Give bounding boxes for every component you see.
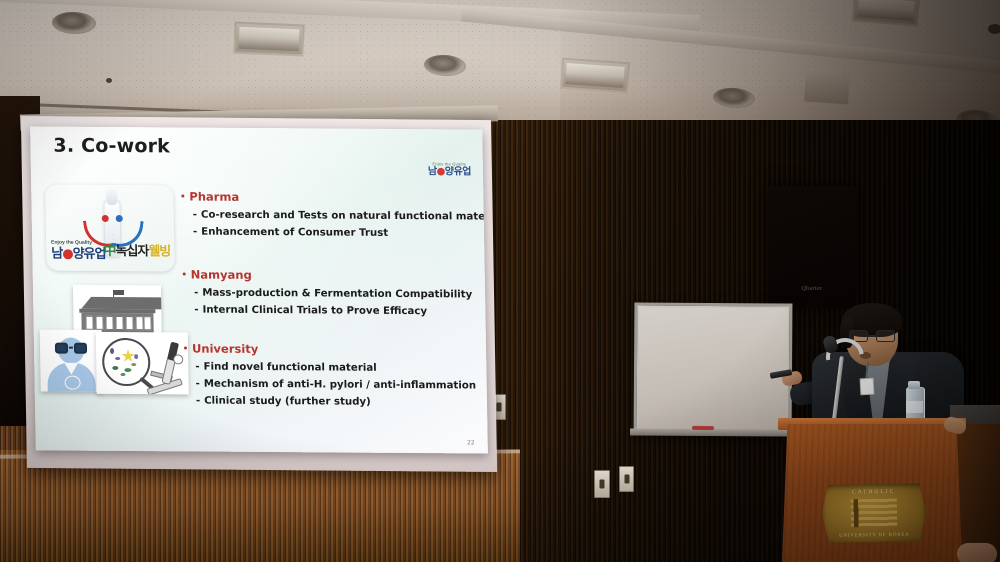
slide-section-namyang: Namyang -Mass-production & Fermentation … bbox=[183, 267, 473, 317]
lanyard-badge bbox=[860, 378, 875, 396]
slide-section-pharma: Pharma -Co-research and Tests on natural… bbox=[181, 189, 488, 239]
scientist-avatar-photo bbox=[40, 329, 103, 391]
section-heading: Namyang bbox=[183, 267, 472, 283]
whiteboard-marker[interactable] bbox=[692, 426, 714, 430]
eyeglasses-icon bbox=[849, 330, 895, 342]
emblem-bottom-text: UNIVERSITY OF KOREA bbox=[822, 531, 926, 538]
emblem-crest-mark bbox=[851, 499, 897, 528]
wall-switch[interactable] bbox=[619, 466, 634, 492]
brand-tile-logo: Enjoy the Quality 남●양유업 bbox=[51, 241, 106, 261]
dark-panel-label: Qbarter bbox=[801, 286, 822, 292]
ceiling-troffer-light bbox=[233, 21, 304, 56]
slide-page-number: 22 bbox=[467, 439, 475, 446]
corner-logo-brand: 남●양유업 bbox=[428, 167, 471, 177]
whiteboard bbox=[634, 302, 793, 435]
product-logo: 中녹십자웰빙 bbox=[103, 243, 170, 259]
section-heading: University bbox=[184, 341, 476, 357]
microscope-icon bbox=[144, 342, 185, 390]
brand-tile-name: 남●양유업 bbox=[51, 248, 105, 261]
section-heading: Pharma bbox=[181, 189, 488, 205]
wall-outlet[interactable] bbox=[594, 470, 610, 498]
section-bullet: -Co-research and Tests on natural functi… bbox=[193, 210, 488, 223]
section-bullet: -Internal Clinical Trials to Prove Effic… bbox=[194, 305, 472, 318]
presentation-slide: 3. Co-work Enjoy the Quality 남●양유업 Enjoy… bbox=[30, 126, 488, 453]
water-bottle-label bbox=[906, 401, 923, 413]
section-bullet: -Mechanism of anti-H. pylori / anti-infl… bbox=[196, 379, 477, 392]
wall-mounted-dark-panel: Qbarter bbox=[768, 186, 856, 308]
namyang-brand-logo-tile: Enjoy the Quality 남●양유업 中녹십자웰빙 bbox=[45, 185, 175, 272]
microscope-microbes-photo bbox=[96, 332, 189, 395]
conference-room-photo: Qbarter 3. Co-work Enjoy the Quality 남●양… bbox=[0, 0, 1000, 562]
section-bullet: -Mass-production & Fermentation Compatib… bbox=[194, 288, 472, 301]
slide-title: 3. Co-work bbox=[53, 135, 170, 158]
namyang-corner-logo: Enjoy the Quality 남●양유업 bbox=[428, 162, 471, 177]
audience-hand bbox=[957, 543, 997, 562]
water-bottle-cap bbox=[908, 381, 920, 389]
emblem-top-text: CATHOLIC bbox=[822, 488, 926, 496]
brand-tile-tagline: Enjoy the Quality bbox=[51, 241, 105, 246]
section-bullet: -Clinical study (further study) bbox=[196, 396, 477, 409]
section-bullet: -Find novel functional material bbox=[195, 362, 476, 375]
slide-section-university: University -Find novel functional materi… bbox=[184, 341, 477, 408]
section-bullet: -Enhancement of Consumer Trust bbox=[193, 227, 488, 240]
university-emblem: CATHOLIC UNIVERSITY OF KOREA bbox=[822, 483, 927, 543]
smoke-detector-icon bbox=[106, 78, 112, 83]
